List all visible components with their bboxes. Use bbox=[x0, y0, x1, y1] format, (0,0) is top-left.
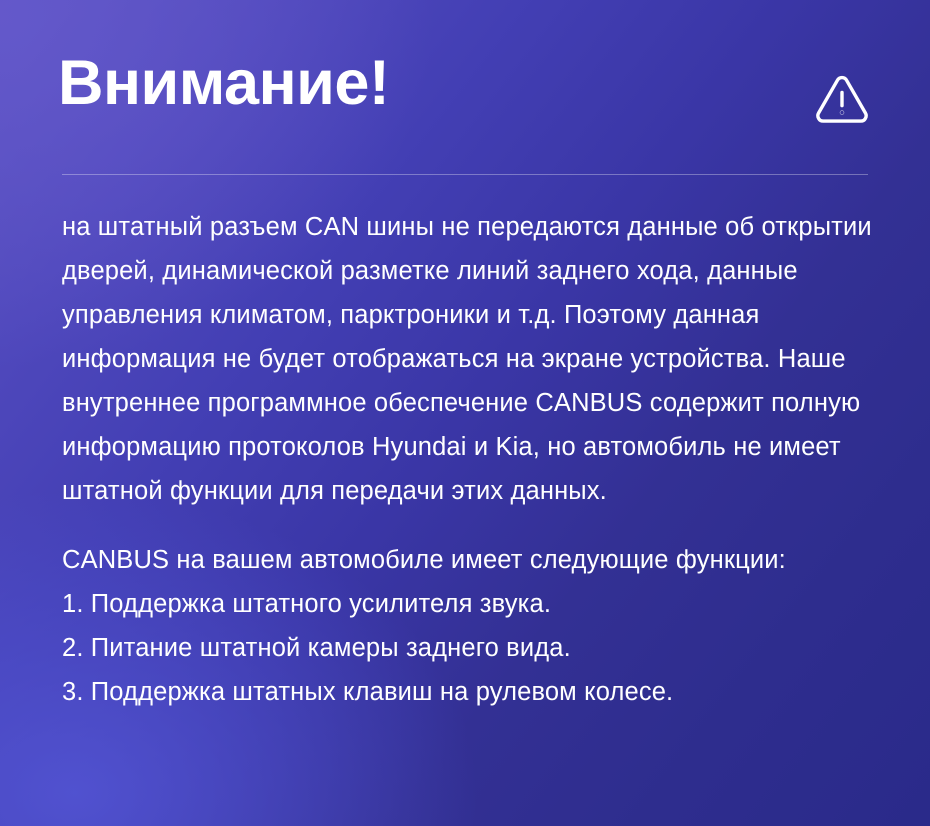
poster-body: на штатный разъем CAN шины не передаются… bbox=[62, 205, 890, 714]
intro-paragraph: на штатный разъем CAN шины не передаются… bbox=[62, 205, 884, 513]
features-block: CANBUS на вашем автомобиле имеет следующ… bbox=[62, 538, 890, 714]
page-title: Внимание! bbox=[58, 52, 389, 115]
features-list: 1. Поддержка штатного усилителя звука. 2… bbox=[62, 582, 890, 714]
features-intro-label: CANBUS на вашем автомобиле имеет следующ… bbox=[62, 538, 890, 582]
poster-header: Внимание! bbox=[0, 0, 930, 176]
warning-poster: Внимание! на штатный разъем CAN шины не … bbox=[0, 0, 930, 826]
warning-triangle-icon bbox=[813, 70, 871, 128]
header-divider bbox=[62, 174, 868, 175]
list-item: 1. Поддержка штатного усилителя звука. bbox=[62, 582, 890, 626]
list-item: 3. Поддержка штатных клавиш на рулевом к… bbox=[62, 670, 890, 714]
list-item: 2. Питание штатной камеры заднего вида. bbox=[62, 626, 890, 670]
